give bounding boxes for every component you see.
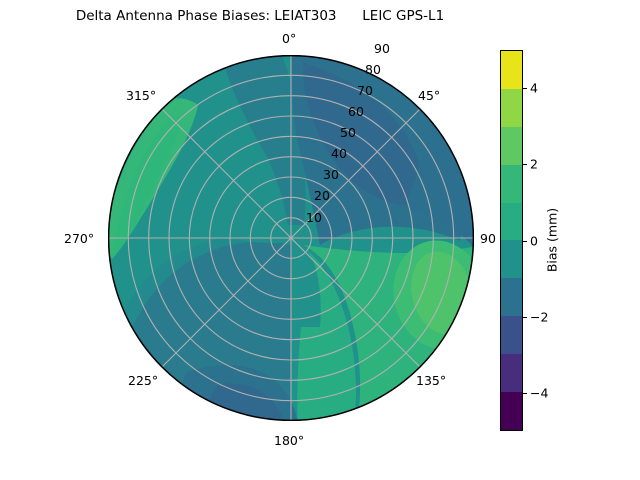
angular-tick-label-45: 45° [418,88,440,103]
colorbar-tick-mark-0 [523,241,527,242]
radial-tick-label-70: 70 [357,83,373,98]
colorbar-band [501,89,522,127]
colorbar-axis-label: Bias (mm) [545,208,560,272]
angular-tick-label-90: 90 [480,231,496,246]
colorbar-band [501,51,522,89]
colorbar-tick-label-2: 2 [530,157,538,172]
angular-tick-label-225: 225° [128,373,158,388]
polar-plot-axes[interactable]: 10 20 30 40 50 60 70 80 90 0° 45° 90 135… [108,55,474,421]
colorbar-tick-mark-neg4 [523,393,527,394]
colorbar-tick-mark-4 [523,88,527,89]
colorbar-band [501,354,522,392]
colorbar-tick-label-4: 4 [530,81,538,96]
radial-tick-label-90: 90 [374,41,390,56]
radial-tick-label-30: 30 [323,167,339,182]
colorbar-gradient[interactable] [500,50,523,431]
colorbar-tick-label-neg2: −2 [530,309,548,324]
angular-tick-label-135: 135° [416,373,446,388]
radial-tick-label-10: 10 [306,210,322,225]
radial-tick-label-40: 40 [331,146,347,161]
colorbar-band [501,278,522,316]
colorbar[interactable]: 4 2 0 −2 −4 [500,50,523,431]
colorbar-tick-label-neg4: −4 [530,385,548,400]
angular-tick-label-315: 315° [126,88,156,103]
polar-contour-svg [108,55,474,421]
colorbar-band [501,165,522,203]
radial-tick-label-50: 50 [340,125,356,140]
radial-tick-label-20: 20 [314,188,330,203]
figure-canvas: Delta Antenna Phase Biases: LEIAT303 LEI… [0,0,640,480]
angular-tick-label-270: 270° [64,231,94,246]
polar-grid-spokes [108,55,474,421]
radial-tick-label-60: 60 [348,104,364,119]
page-title: Delta Antenna Phase Biases: LEIAT303 LEI… [0,8,520,24]
colorbar-band [501,240,522,278]
radial-tick-label-80: 80 [365,62,381,77]
colorbar-band [501,127,522,165]
angular-tick-label-0: 0° [282,31,296,46]
colorbar-band [501,316,522,354]
angular-tick-label-180: 180° [274,433,304,448]
colorbar-tick-label-0: 0 [530,233,538,248]
colorbar-band [501,392,522,430]
colorbar-tick-mark-neg2 [523,317,527,318]
colorbar-band [501,203,522,241]
colorbar-tick-mark-2 [523,164,527,165]
